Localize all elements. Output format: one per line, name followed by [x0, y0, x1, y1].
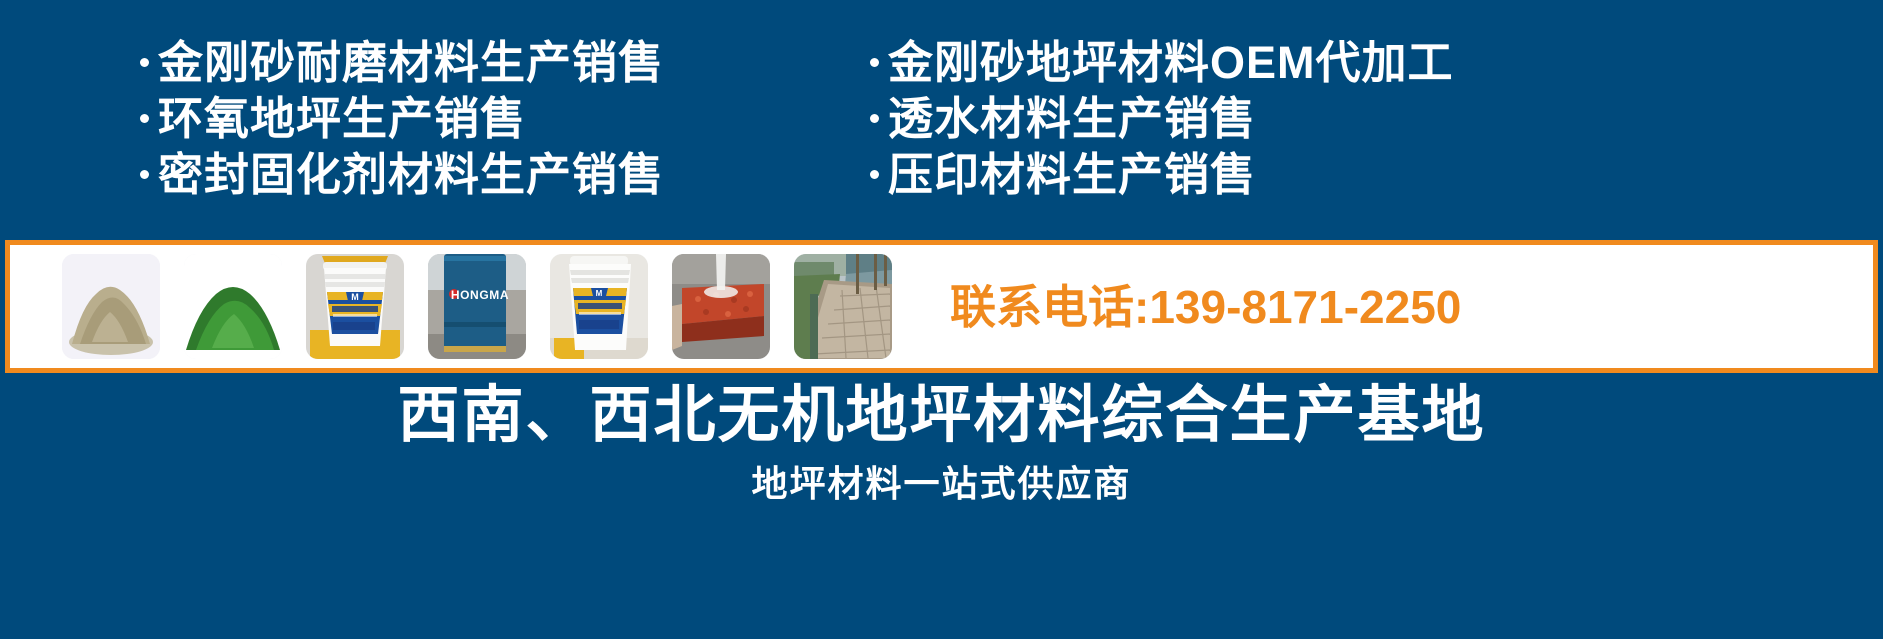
bullet-dot-icon	[140, 58, 149, 67]
product-thumb-permeable-concrete	[672, 254, 770, 359]
bullet-dot-icon	[870, 114, 879, 123]
service-label: 环氧地坪生产销售	[158, 96, 526, 141]
service-item: 密封固化剂材料生产销售	[140, 146, 860, 202]
product-thumb-emery-powder	[62, 254, 160, 359]
product-thumb-concrete-seal-curing-agent: M	[306, 254, 404, 359]
product-thumb-hongma-drum: HONGMA	[428, 254, 526, 359]
services-list: 金刚砂耐磨材料生产销售 环氧地坪生产销售 密封固化剂材料生产销售 金刚砂地坪材料…	[0, 34, 1883, 224]
service-item: 环氧地坪生产销售	[140, 90, 860, 146]
services-right-column: 金刚砂地坪材料OEM代加工 透水材料生产销售 压印材料生产销售	[860, 34, 1883, 224]
page-subtitle: 地坪材料一站式供应商	[0, 466, 1883, 502]
svg-text:M: M	[596, 289, 603, 298]
services-left-column: 金刚砂耐磨材料生产销售 环氧地坪生产销售 密封固化剂材料生产销售	[0, 34, 860, 224]
product-thumb-green-powder	[184, 254, 282, 359]
product-showcase-panel: M HONGMA	[5, 240, 1878, 373]
service-item: 金刚砂地坪材料OEM代加工	[870, 34, 1883, 90]
service-label: 密封固化剂材料生产销售	[158, 152, 664, 197]
product-thumb-modified-epoxy-floor-coating: M	[550, 254, 648, 359]
product-thumb-stamped-concrete-walkway	[794, 254, 892, 359]
contact-phone[interactable]: 联系电话:139-8171-2250	[950, 284, 1461, 330]
bullet-dot-icon	[140, 114, 149, 123]
service-label: 金刚砂地坪材料OEM代加工	[888, 40, 1454, 85]
bullet-dot-icon	[140, 170, 149, 179]
service-item: 透水材料生产销售	[870, 90, 1883, 146]
service-label: 透水材料生产销售	[888, 96, 1256, 141]
advertisement-banner: 金刚砂耐磨材料生产销售 环氧地坪生产销售 密封固化剂材料生产销售 金刚砂地坪材料…	[0, 0, 1883, 639]
service-label: 压印材料生产销售	[888, 152, 1256, 197]
powder-heap-icon	[62, 254, 160, 359]
permeable-concrete-icon	[672, 254, 770, 359]
svg-text:HONGMA: HONGMA	[451, 288, 509, 302]
paint-pail-icon: M	[306, 254, 404, 359]
green-powder-heap-icon	[184, 254, 282, 359]
bullet-dot-icon	[870, 58, 879, 67]
service-item: 压印材料生产销售	[870, 146, 1883, 202]
service-item: 金刚砂耐磨材料生产销售	[140, 34, 860, 90]
product-thumbnail-strip: M HONGMA	[10, 254, 892, 359]
svg-text:M: M	[351, 292, 359, 302]
stamped-walkway-icon	[794, 254, 892, 359]
steel-drum-icon: HONGMA	[428, 254, 526, 359]
bullet-dot-icon	[870, 170, 879, 179]
service-label: 金刚砂耐磨材料生产销售	[158, 40, 664, 85]
page-title: 西南、西北无机地坪材料综合生产基地	[0, 385, 1883, 447]
paint-pail-icon: M	[550, 254, 648, 359]
